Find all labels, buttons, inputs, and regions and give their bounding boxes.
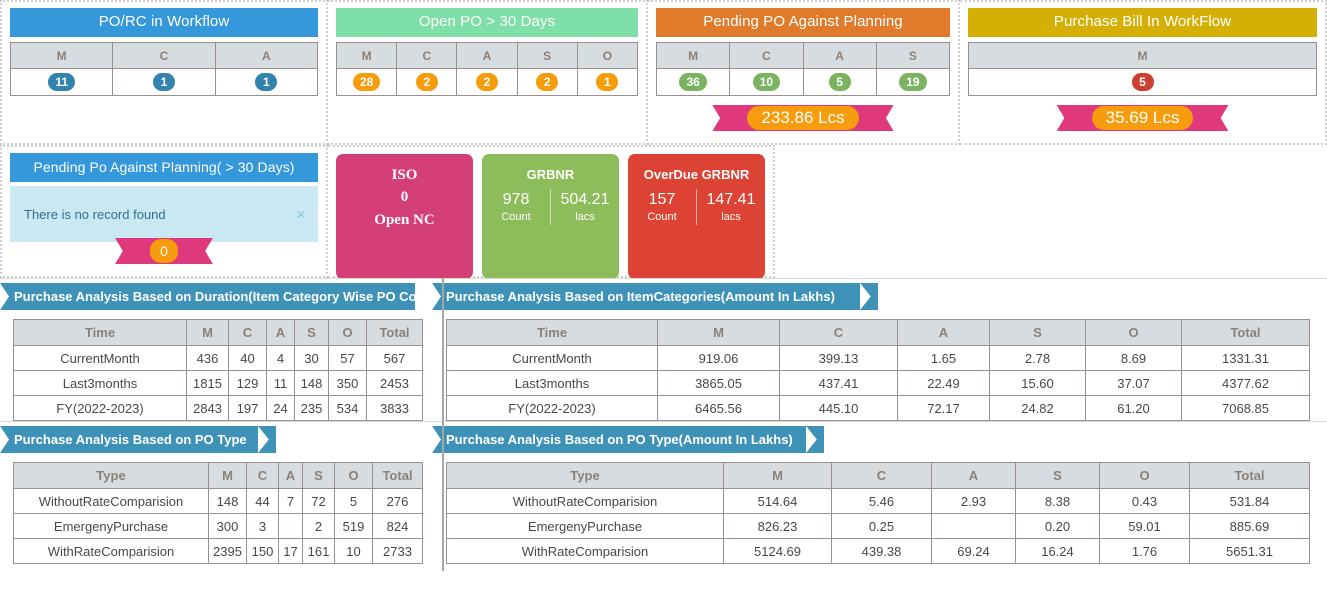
data-cell: 44 (247, 489, 279, 514)
count-badge-A[interactable]: 1 (255, 73, 277, 91)
widget-panel-2: Pending PO Against PlanningMCAS361051923… (648, 0, 960, 145)
data-cell: 148 (209, 489, 247, 514)
col-header-A: A (457, 43, 517, 69)
count-badge-A[interactable]: 2 (476, 73, 498, 91)
stat-card-amount-half: 504.21lacs (550, 189, 619, 225)
close-icon[interactable]: × (296, 206, 306, 223)
data-cell: 17 (279, 539, 303, 564)
column-header-O: O (335, 463, 373, 489)
data-cell: 350 (329, 371, 367, 396)
column-header-A: A (898, 320, 990, 346)
count-badge-S[interactable]: 2 (536, 73, 558, 91)
widget-value-row: 5 (969, 69, 1317, 96)
amount-ribbon: 233.86 Lcs (725, 105, 880, 131)
widget-header-row: MCA (11, 43, 318, 69)
stat-card-count-value: 978 (485, 189, 547, 210)
col-header-M: M (657, 43, 730, 69)
section-title: Purchase Analysis Based on Duration(Item… (0, 283, 415, 310)
widget-title-0: PO/RC in Workflow (10, 8, 318, 37)
table-header-row: TimeMCASOTotal (447, 320, 1310, 346)
section-titlebar: Purchase Analysis Based on ItemCategorie… (432, 283, 1316, 310)
data-cell: 2843 (187, 396, 229, 421)
widget-cell: 1 (215, 69, 317, 96)
data-cell: 129 (229, 371, 267, 396)
data-cell: 531.84 (1190, 489, 1310, 514)
column-header-Total: Total (1190, 463, 1310, 489)
row2-filler (775, 145, 1327, 278)
section-duration-count: Purchase Analysis Based on Duration(Item… (0, 283, 432, 421)
top-widgets-row: PO/RC in WorkflowMCA1111Open PO > 30 Day… (0, 0, 1327, 145)
section-titlebar: Purchase Analysis Based on PO Type (0, 426, 432, 453)
column-header-Type: Type (14, 463, 209, 489)
column-header-A: A (932, 463, 1016, 489)
widget-table-0: MCA1111 (10, 42, 318, 96)
table-row: WithRateComparision239515017161102733 (14, 539, 423, 564)
widget-value-row: 282221 (337, 69, 638, 96)
stat-card-0[interactable]: ISO0Open NC (336, 154, 473, 279)
table-row: FY(2022-2023)6465.56445.1072.1724.8261.2… (447, 396, 1310, 421)
data-cell: 6465.56 (658, 396, 780, 421)
widget-header-row: MCASO (337, 43, 638, 69)
data-cell: 7068.85 (1182, 396, 1310, 421)
stat-card-title: GRBNR (482, 165, 619, 185)
data-cell: 2395 (209, 539, 247, 564)
data-cell: 2.93 (932, 489, 1016, 514)
widget-cell: 2 (397, 69, 457, 96)
column-header-Total: Total (1182, 320, 1310, 346)
section-title-cap (258, 426, 276, 453)
widget-cell: 10 (730, 69, 803, 96)
data-cell: 197 (229, 396, 267, 421)
count-badge-S[interactable]: 19 (899, 73, 926, 91)
col-header-A: A (215, 43, 317, 69)
data-cell: 59.01 (1100, 514, 1190, 539)
widget-cell: 5 (969, 69, 1317, 96)
widget-cell: 19 (876, 69, 949, 96)
widget-cell: 1 (577, 69, 637, 96)
count-value: 0 (150, 239, 178, 263)
column-header-S: S (295, 320, 329, 346)
data-cell: 161 (303, 539, 335, 564)
data-cell: 0.43 (1100, 489, 1190, 514)
data-table-potype-amount: TypeMCASOTotalWithoutRateComparision514.… (446, 462, 1310, 564)
column-header-O: O (1086, 320, 1182, 346)
stat-card-subtitle: Open NC (336, 209, 473, 231)
row-label-cell: WithoutRateComparision (447, 489, 724, 514)
count-badge-C[interactable]: 10 (753, 73, 780, 91)
ribbon-wrap: 233.86 Lcs (656, 105, 950, 131)
section-title: Purchase Analysis Based on PO Type (0, 426, 258, 453)
column-header-A: A (279, 463, 303, 489)
row-label-cell: Last3months (14, 371, 187, 396)
data-cell: 72.17 (898, 396, 990, 421)
no-record-alert: There is no record found× (10, 186, 318, 242)
table-row: Last3months3865.05437.4122.4915.6037.074… (447, 371, 1310, 396)
pending-po-panel: Pending Po Against Planning( > 30 Days)T… (0, 145, 328, 278)
data-cell: 826.23 (724, 514, 832, 539)
amount-ribbon: 35.69 Lcs (1070, 105, 1216, 131)
row-label-cell: EmergenyPurchase (14, 514, 209, 539)
section-divider-1 (442, 278, 444, 425)
ribbon-wrap: 35.69 Lcs (968, 105, 1317, 131)
stat-card-count-label: Count (485, 210, 547, 225)
row-label-cell: FY(2022-2023) (14, 396, 187, 421)
table-row: WithRateComparision5124.69439.3869.2416.… (447, 539, 1310, 564)
ribbon-wrap: 0 (10, 238, 318, 264)
row-label-cell: EmergenyPurchase (447, 514, 724, 539)
table-row: FY(2022-2023)2843197242355343833 (14, 396, 423, 421)
stat-card-amount-value: 504.21 (554, 189, 616, 210)
stat-card-1[interactable]: GRBNR978Count504.21lacs (482, 154, 619, 279)
widget-table-1: MCASO282221 (336, 42, 638, 96)
data-cell: 1331.31 (1182, 346, 1310, 371)
data-cell: 3865.05 (658, 371, 780, 396)
data-cell: 8.38 (1016, 489, 1100, 514)
widget-table-3: M5 (968, 42, 1317, 96)
stat-card-split: 157Count147.41lacs (628, 189, 765, 225)
column-header-S: S (1016, 463, 1100, 489)
column-header-Time: Time (447, 320, 658, 346)
widget-cell: 5 (803, 69, 876, 96)
widget-header-row: MCAS (657, 43, 950, 69)
table-row: CurrentMonth919.06399.131.652.788.691331… (447, 346, 1310, 371)
table-row: WithoutRateComparision148447725276 (14, 489, 423, 514)
data-cell: 30 (295, 346, 329, 371)
data-cell: 5124.69 (724, 539, 832, 564)
data-cell: 37.07 (1086, 371, 1182, 396)
column-header-A: A (267, 320, 295, 346)
data-cell: 72 (303, 489, 335, 514)
data-cell: 40 (229, 346, 267, 371)
data-cell: 57 (329, 346, 367, 371)
stat-card-count-half: 157Count (628, 189, 696, 225)
data-cell: 2.78 (990, 346, 1086, 371)
column-header-C: C (832, 463, 932, 489)
column-header-Total: Total (373, 463, 423, 489)
count-badge-M[interactable]: 11 (48, 73, 75, 91)
count-badge-C[interactable]: 1 (153, 73, 175, 91)
stat-card-2[interactable]: OverDue GRBNR157Count147.41lacs (628, 154, 765, 279)
data-cell: 150 (247, 539, 279, 564)
data-cell: 15.60 (990, 371, 1086, 396)
data-cell: 2733 (373, 539, 423, 564)
table-header-row: TypeMCASOTotal (447, 463, 1310, 489)
data-cell: 514.64 (724, 489, 832, 514)
section-potype-amount: Purchase Analysis Based on PO Type(Amoun… (432, 426, 1316, 564)
column-header-M: M (658, 320, 780, 346)
data-cell (932, 514, 1016, 539)
data-cell: 5 (335, 489, 373, 514)
pending-po-title: Pending Po Against Planning( > 30 Days) (10, 153, 318, 182)
table-row: CurrentMonth4364043057567 (14, 346, 423, 371)
widget-cell: 36 (657, 69, 730, 96)
widget-value-row: 1111 (11, 69, 318, 96)
table-header-row: TypeMCASOTotal (14, 463, 423, 489)
column-header-S: S (303, 463, 335, 489)
col-header-M: M (969, 43, 1317, 69)
column-header-O: O (329, 320, 367, 346)
data-table-duration-count: TimeMCASOTotalCurrentMonth4364043057567L… (13, 319, 423, 421)
widget-cell: 28 (337, 69, 397, 96)
data-cell: 1.76 (1100, 539, 1190, 564)
stat-card-title: OverDue GRBNR (628, 165, 765, 185)
col-header-C: C (730, 43, 803, 69)
table-row: WithoutRateComparision514.645.462.938.38… (447, 489, 1310, 514)
row-label-cell: FY(2022-2023) (447, 396, 658, 421)
data-cell: 235 (295, 396, 329, 421)
table-row: EmergenyPurchase30032519824 (14, 514, 423, 539)
data-cell: 4 (267, 346, 295, 371)
amount-value: 233.86 Lcs (747, 106, 858, 130)
section-titlebar: Purchase Analysis Based on Duration(Item… (0, 283, 432, 310)
data-cell: 4377.62 (1182, 371, 1310, 396)
data-cell: 885.69 (1190, 514, 1310, 539)
data-cell: 10 (335, 539, 373, 564)
column-header-C: C (780, 320, 898, 346)
data-cell: 22.49 (898, 371, 990, 396)
row-label-cell: CurrentMonth (14, 346, 187, 371)
row-label-cell: Last3months (447, 371, 658, 396)
widget-table-2: MCAS3610519 (656, 42, 950, 96)
data-cell: 824 (373, 514, 423, 539)
column-header-M: M (724, 463, 832, 489)
data-cell: 3 (247, 514, 279, 539)
col-header-S: S (517, 43, 577, 69)
stat-card-value: 0 (336, 185, 473, 209)
count-badge-O[interactable]: 1 (596, 73, 618, 91)
data-cell: 439.38 (832, 539, 932, 564)
section-itemcategories-amount: Purchase Analysis Based on ItemCategorie… (432, 283, 1316, 421)
column-header-M: M (209, 463, 247, 489)
column-header-O: O (1100, 463, 1190, 489)
col-header-C: C (113, 43, 215, 69)
col-header-A: A (803, 43, 876, 69)
data-cell: 24.82 (990, 396, 1086, 421)
col-header-M: M (337, 43, 397, 69)
second-widgets-row: Pending Po Against Planning( > 30 Days)T… (0, 145, 1327, 278)
data-cell: 7 (279, 489, 303, 514)
col-header-O: O (577, 43, 637, 69)
data-cell: 0.25 (832, 514, 932, 539)
section-title: Purchase Analysis Based on ItemCategorie… (432, 283, 860, 310)
column-header-C: C (247, 463, 279, 489)
row-label-cell: WithoutRateComparision (14, 489, 209, 514)
amount-value: 35.69 Lcs (1092, 106, 1194, 130)
col-header-M: M (11, 43, 113, 69)
col-header-S: S (876, 43, 949, 69)
table-row: Last3months1815129111483502453 (14, 371, 423, 396)
data-table-potype-count: TypeMCASOTotalWithoutRateComparision1484… (13, 462, 423, 564)
table-header-row: TimeMCASOTotal (14, 320, 423, 346)
data-cell (279, 514, 303, 539)
data-cell: 5651.31 (1190, 539, 1310, 564)
stat-card-amount-value: 147.41 (700, 189, 762, 210)
section-potype-count: Purchase Analysis Based on PO TypeTypeMC… (0, 426, 432, 564)
column-header-M: M (187, 320, 229, 346)
widget-cell: 2 (517, 69, 577, 96)
section-titlebar: Purchase Analysis Based on PO Type(Amoun… (432, 426, 1316, 453)
data-cell: 3833 (367, 396, 423, 421)
column-header-S: S (990, 320, 1086, 346)
data-cell: 0.20 (1016, 514, 1100, 539)
row-label-cell: CurrentMonth (447, 346, 658, 371)
row-label-cell: WithRateComparision (447, 539, 724, 564)
section-divider-2 (442, 421, 444, 571)
widget-cell: 11 (11, 69, 113, 96)
stat-card-count-label: Count (631, 210, 693, 225)
data-cell: 276 (373, 489, 423, 514)
column-header-C: C (229, 320, 267, 346)
data-cell: 1.65 (898, 346, 990, 371)
data-cell: 69.24 (932, 539, 1016, 564)
widget-panel-3: Purchase Bill In WorkFlowM535.69 Lcs (960, 0, 1327, 145)
column-header-Type: Type (447, 463, 724, 489)
stat-card-count-half: 978Count (482, 189, 550, 225)
col-header-C: C (397, 43, 457, 69)
count-badge-M[interactable]: 28 (353, 73, 380, 91)
data-cell: 2453 (367, 371, 423, 396)
widget-value-row: 3610519 (657, 69, 950, 96)
stat-card-amount-label: lacs (700, 210, 762, 225)
data-cell: 519 (335, 514, 373, 539)
data-cell: 61.20 (1086, 396, 1182, 421)
alert-message: There is no record found (24, 207, 166, 222)
data-cell: 300 (209, 514, 247, 539)
data-cell: 567 (367, 346, 423, 371)
data-cell: 2 (303, 514, 335, 539)
widget-panel-1: Open PO > 30 DaysMCASO282221 (328, 0, 648, 145)
analysis-row-1: Purchase Analysis Based on Duration(Item… (0, 278, 1327, 421)
count-badge-A[interactable]: 5 (829, 73, 851, 91)
column-header-Total: Total (367, 320, 423, 346)
data-cell: 534 (329, 396, 367, 421)
column-header-Time: Time (14, 320, 187, 346)
data-cell: 437.41 (780, 371, 898, 396)
widget-title-3: Purchase Bill In WorkFlow (968, 8, 1317, 37)
data-cell: 8.69 (1086, 346, 1182, 371)
widget-title-2: Pending PO Against Planning (656, 8, 950, 37)
data-cell: 148 (295, 371, 329, 396)
count-badge-M[interactable]: 36 (679, 73, 706, 91)
stat-card-title: ISO (336, 165, 473, 185)
count-ribbon: 0 (128, 238, 200, 264)
widget-cell: 1 (113, 69, 215, 96)
dashboard-page: PO/RC in WorkflowMCA1111Open PO > 30 Day… (0, 0, 1327, 590)
data-cell: 436 (187, 346, 229, 371)
table-row: EmergenyPurchase826.230.250.2059.01885.6… (447, 514, 1310, 539)
data-cell: 445.10 (780, 396, 898, 421)
widget-panel-0: PO/RC in WorkflowMCA1111 (0, 0, 328, 145)
data-cell: 16.24 (1016, 539, 1100, 564)
data-cell: 11 (267, 371, 295, 396)
widget-title-1: Open PO > 30 Days (336, 8, 638, 37)
stat-card-count-value: 157 (631, 189, 693, 210)
data-table-itemcategories-amount: TimeMCASOTotalCurrentMonth919.06399.131.… (446, 319, 1310, 421)
stat-cards-panel: ISO0Open NCGRBNR978Count504.21lacsOverDu… (328, 145, 775, 278)
widget-cell: 2 (457, 69, 517, 96)
section-title-cap (860, 283, 878, 310)
data-cell: 24 (267, 396, 295, 421)
stat-card-split: 978Count504.21lacs (482, 189, 619, 225)
data-cell: 919.06 (658, 346, 780, 371)
analysis-row-2: Purchase Analysis Based on PO TypeTypeMC… (0, 421, 1327, 564)
stat-card-amount-half: 147.41lacs (696, 189, 765, 225)
row-label-cell: WithRateComparision (14, 539, 209, 564)
widget-header-row: M (969, 43, 1317, 69)
data-cell: 1815 (187, 371, 229, 396)
data-cell: 5.46 (832, 489, 932, 514)
count-badge-C[interactable]: 2 (416, 73, 438, 91)
section-title: Purchase Analysis Based on PO Type(Amoun… (432, 426, 806, 453)
data-cell: 399.13 (780, 346, 898, 371)
stat-card-amount-label: lacs (554, 210, 616, 225)
section-title-cap (806, 426, 824, 453)
count-badge-M[interactable]: 5 (1132, 73, 1154, 91)
